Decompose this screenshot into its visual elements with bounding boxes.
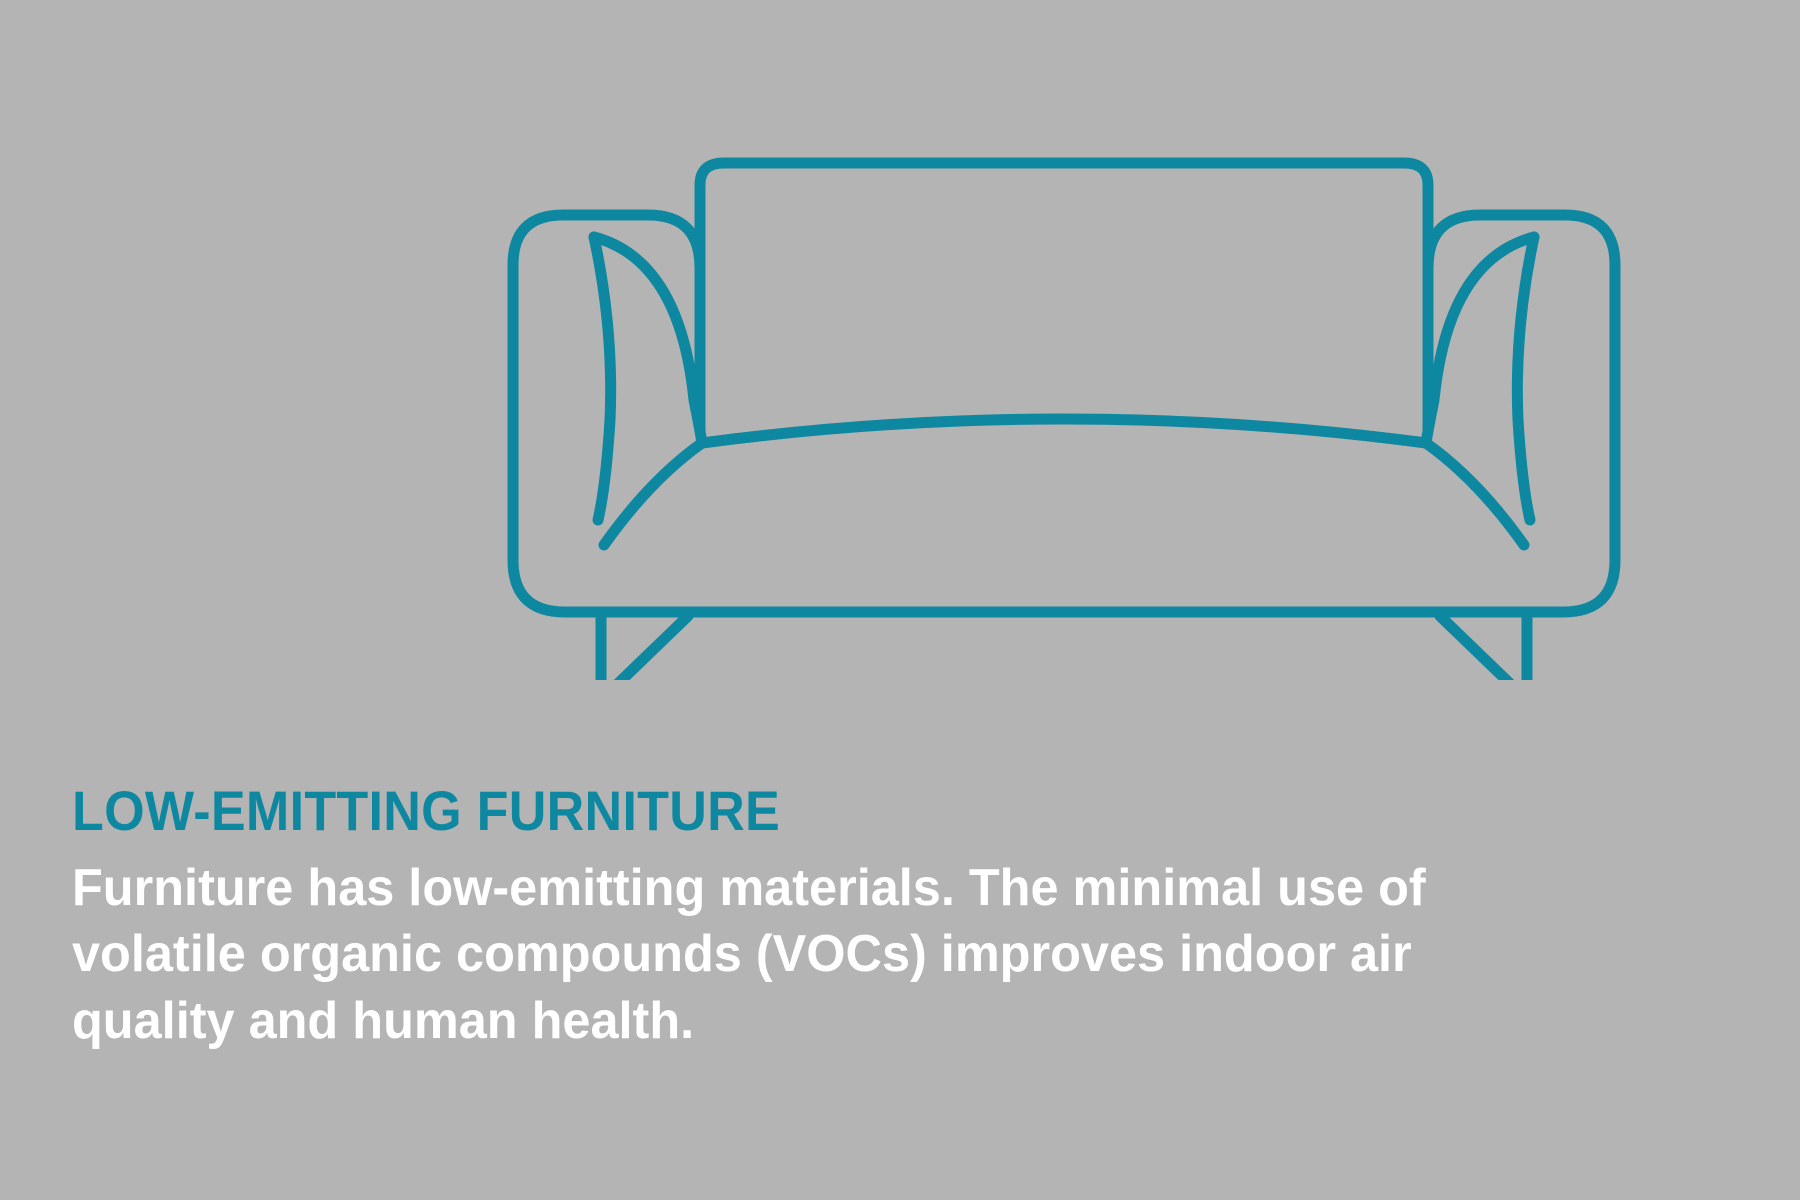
sofa-seat-cushion-path — [702, 419, 1426, 443]
sofa-backrest-path — [700, 163, 1428, 430]
sofa-illustration — [0, 0, 1800, 680]
page-title: LOW-EMITTING FURNITURE — [72, 782, 1597, 841]
sofa-left-cushion-path — [594, 237, 611, 520]
sofa-seat-right-sweep-path — [1426, 443, 1524, 545]
card-description: Furniture has low-emitting materials. Th… — [72, 855, 1449, 1055]
sofa-left-leg-path — [601, 616, 688, 680]
sofa-right-cushion-path — [1517, 237, 1534, 520]
sofa-icon — [0, 0, 1800, 680]
text-block: LOW-EMITTING FURNITURE Furniture has low… — [72, 782, 1712, 1054]
sofa-seat-left-sweep-path — [604, 443, 702, 545]
low-emitting-furniture-card: LOW-EMITTING FURNITURE Furniture has low… — [0, 0, 1800, 1200]
sofa-base-path — [513, 560, 1615, 612]
sofa-right-leg-path — [1440, 616, 1527, 680]
